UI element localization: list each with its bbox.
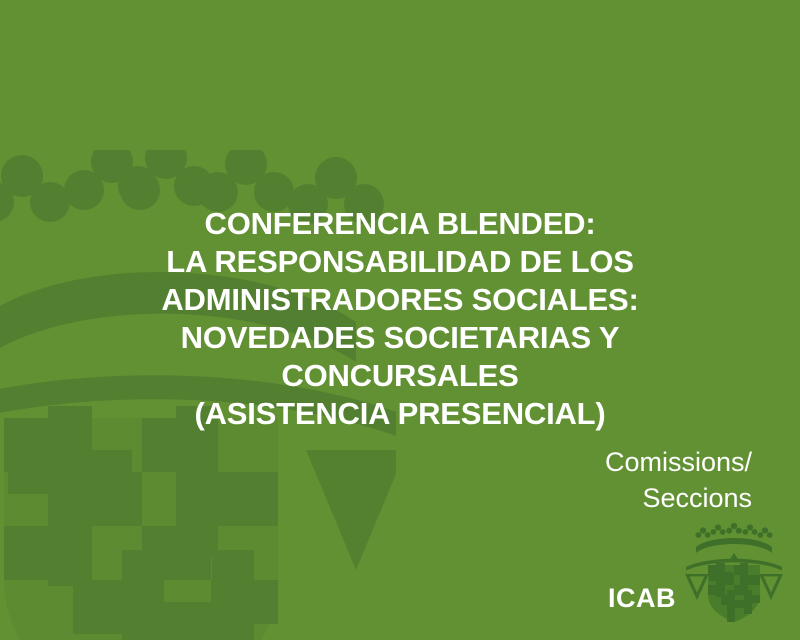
- subtitle-line-2: Seccions: [605, 480, 752, 516]
- title-line-4: NOVEDADES SOCIETARIAS Y: [40, 319, 760, 357]
- logo-scale-pan-right: [759, 574, 783, 600]
- title-line-2: LA RESPONSABILIDAD DE LOS: [40, 243, 760, 281]
- icab-wordmark: ICAB: [608, 585, 676, 630]
- logo-beam-finial: [730, 553, 738, 559]
- logo-crown-band: [696, 538, 772, 553]
- logo-shield: [708, 563, 760, 622]
- title-line-6: (ASISTENCIA PRESENCIAL): [40, 395, 760, 433]
- logo-scale-pan-left: [685, 574, 709, 600]
- title-line-1: CONFERENCIA BLENDED:: [40, 205, 760, 243]
- conference-title: CONFERENCIA BLENDED: LA RESPONSABILIDAD …: [0, 205, 800, 433]
- subtitle-line-1: Comissions/: [605, 444, 752, 480]
- watermark-scale-pan-right: [306, 450, 396, 570]
- logo-crown-trefoils: [696, 523, 773, 538]
- conference-banner-card: CONFERENCIA BLENDED: LA RESPONSABILIDAD …: [0, 0, 800, 640]
- conference-subtitle: Comissions/ Seccions: [605, 444, 752, 516]
- icab-crest-logo: [682, 518, 786, 630]
- title-line-5: CONCURSALES: [40, 357, 760, 395]
- watermark-shield: [4, 406, 278, 640]
- title-line-3: ADMINISTRADORES SOCIALES:: [40, 281, 760, 319]
- icab-brand-lockup: ICAB: [608, 518, 786, 630]
